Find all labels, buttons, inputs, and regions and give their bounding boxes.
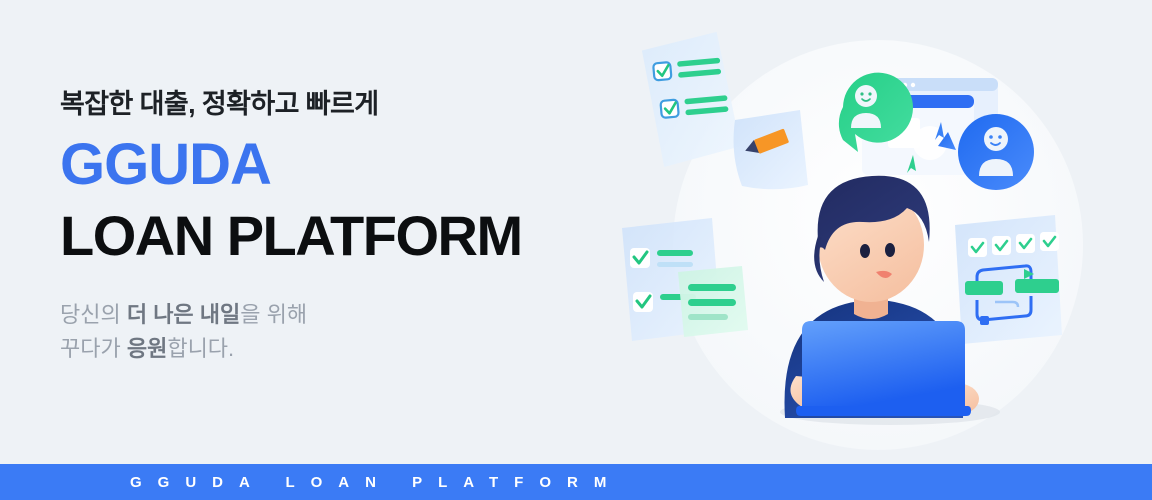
hero-banner: 복잡한 대출, 정확하고 빠르게 GGUDA LOAN PLATFORM 당신의… [0, 0, 1152, 500]
eye-right [885, 243, 895, 257]
hero-kicker: 복잡한 대출, 정확하고 빠르게 [60, 88, 660, 122]
tagline-1-prefix: 당신의 [60, 302, 127, 327]
hero-tagline: 당신의 더 나은 내일을 위해 꾸다가 응원합니다. [60, 298, 660, 366]
note-card-mint [678, 266, 748, 337]
flow-node [965, 281, 1003, 295]
laptop [796, 321, 971, 416]
tagline-1-suffix: 을 위해 [240, 302, 307, 327]
hero-brand-name: GGUDA [60, 136, 660, 194]
tagline-2-prefix: 꾸다가 [60, 336, 127, 361]
bottom-ticker-bar: GGUDA LOAN PLATFORM [0, 464, 1152, 500]
hero-product-name: LOAN PLATFORM [60, 208, 660, 264]
illustration-svg [600, 0, 1152, 470]
tagline-2-suffix: 합니다. [167, 336, 234, 361]
tagline-1-strong: 더 나은 내일 [127, 302, 240, 327]
workflow-card-right [955, 215, 1062, 344]
ticker-text: GGUDA LOAN PLATFORM [0, 474, 622, 491]
hero-tagline-line-2: 꾸다가 응원합니다. [60, 332, 660, 366]
checklist-card-top-left [641, 31, 742, 168]
hero-copy: 복잡한 대출, 정확하고 빠르게 GGUDA LOAN PLATFORM 당신의… [60, 88, 660, 366]
eye-left [860, 244, 870, 258]
pencil-note-card [734, 110, 808, 189]
hero-illustration [600, 0, 1152, 470]
tagline-2-strong: 응원 [127, 336, 167, 361]
flow-node [1015, 279, 1059, 293]
hero-tagline-line-1: 당신의 더 나은 내일을 위해 [60, 298, 660, 332]
